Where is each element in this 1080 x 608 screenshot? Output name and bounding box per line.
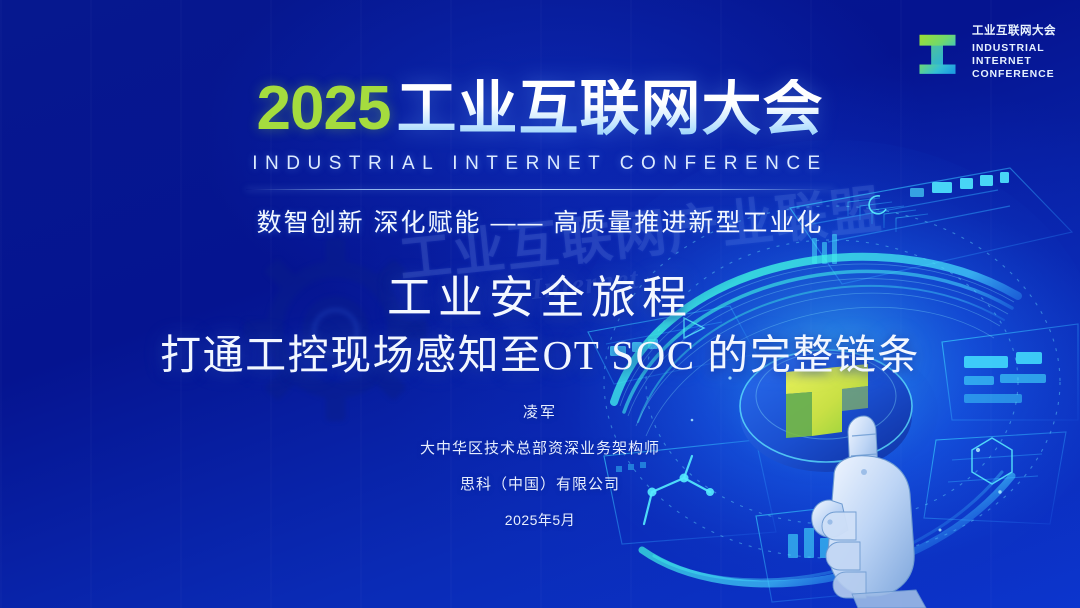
masthead-cn-title: 工业互联网大会 — [396, 79, 823, 139]
masthead-en-title: INDUSTRIAL INTERNET CONFERENCE — [0, 153, 1080, 175]
deck-title: 工业安全旅程 — [0, 272, 1080, 325]
presenter-date: 2025年5月 — [0, 513, 1080, 527]
masthead-year: 2025 — [257, 78, 391, 140]
conference-logo-cn: 工业互联网大会 — [972, 26, 1056, 38]
deck-heading: 工业安全旅程 打通工控现场感知至OT SOC 的完整链条 — [0, 272, 1080, 380]
presenter-company: 思科（中国）有限公司 — [0, 477, 1080, 492]
conference-logo-text: 工业互联网大会 INDUSTRIAL INTERNET CONFERENCE — [972, 26, 1056, 82]
conference-logo: 工业互联网大会 INDUSTRIAL INTERNET CONFERENCE — [914, 26, 1056, 82]
masthead-title-row: 2025 工业互联网大会 — [0, 78, 1080, 140]
conference-logo-en-2: INTERNET — [972, 55, 1056, 68]
masthead-divider — [246, 189, 834, 190]
presenter-block: 凌军 大中华区技术总部资深业务架构师 思科（中国）有限公司 2025年5月 — [0, 405, 1080, 527]
conference-logo-mark-icon — [914, 30, 961, 77]
deck-subtitle: 打通工控现场感知至OT SOC 的完整链条 — [0, 331, 1080, 380]
presenter-name: 凌军 — [0, 405, 1080, 420]
presentation-slide: 工业互联网产业联盟 Internet — [0, 0, 1080, 608]
conference-logo-en-1: INDUSTRIAL — [972, 42, 1056, 55]
conference-masthead: 2025 工业互联网大会 INDUSTRIAL INTERNET CONFERE… — [0, 78, 1080, 239]
masthead-slogan: 数智创新 深化赋能 —— 高质量推进新型工业化 — [0, 203, 1080, 239]
presenter-role: 大中华区技术总部资深业务架构师 — [0, 441, 1080, 456]
